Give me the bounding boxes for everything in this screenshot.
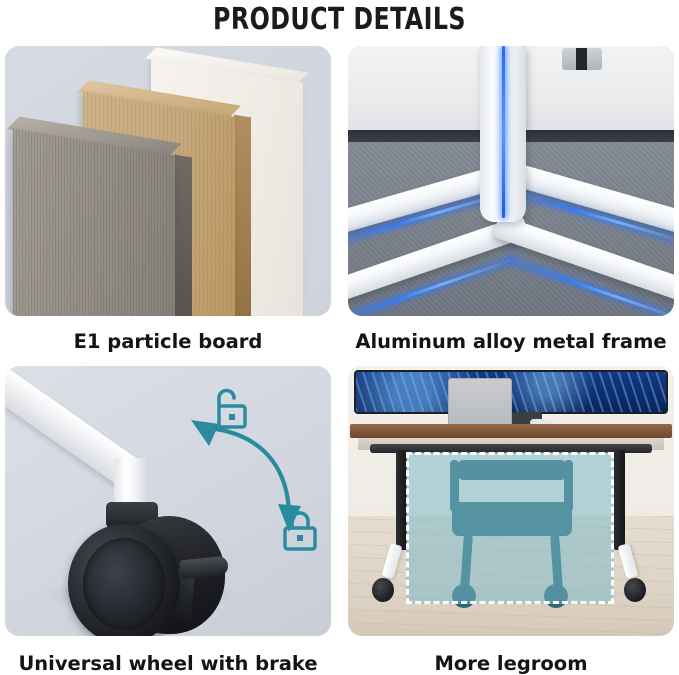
universal-wheel-image	[5, 366, 331, 636]
board-tan-side-edge	[234, 115, 251, 316]
more-legroom-image	[348, 366, 674, 636]
aluminum-frame-image	[348, 46, 674, 316]
wheel-hub	[83, 538, 165, 630]
panel-particle-board: E1 particle board	[5, 46, 331, 353]
desk-caster-left	[372, 578, 394, 602]
laptop	[448, 378, 512, 426]
board-gray-face	[13, 128, 175, 316]
page-title: PRODUCT DETAILS	[41, 2, 639, 37]
caption-universal-wheel: Universal wheel with brake	[5, 652, 331, 675]
panel-more-legroom: More legroom	[348, 366, 674, 675]
desk-caster-right	[624, 578, 646, 602]
desk-leg-right	[614, 450, 625, 550]
unlock-icon	[209, 386, 251, 432]
desk-top-surface	[350, 424, 672, 438]
product-details-page: PRODUCT DETAILS E1 particle board	[0, 0, 679, 673]
caption-more-legroom: More legroom	[348, 652, 674, 675]
particle-board-image	[5, 46, 331, 316]
caption-particle-board: E1 particle board	[5, 330, 331, 353]
lock-icon	[279, 508, 321, 554]
legroom-highlight-region	[406, 452, 614, 604]
column-glow-line	[502, 46, 505, 218]
panel-aluminum-frame: Aluminum alloy metal frame	[348, 46, 674, 353]
caption-aluminum-frame: Aluminum alloy metal frame	[348, 330, 674, 353]
frame-bracket	[562, 48, 602, 70]
panel-universal-wheel: Universal wheel with brake	[5, 366, 331, 675]
board-gray-side-edge	[174, 154, 192, 316]
